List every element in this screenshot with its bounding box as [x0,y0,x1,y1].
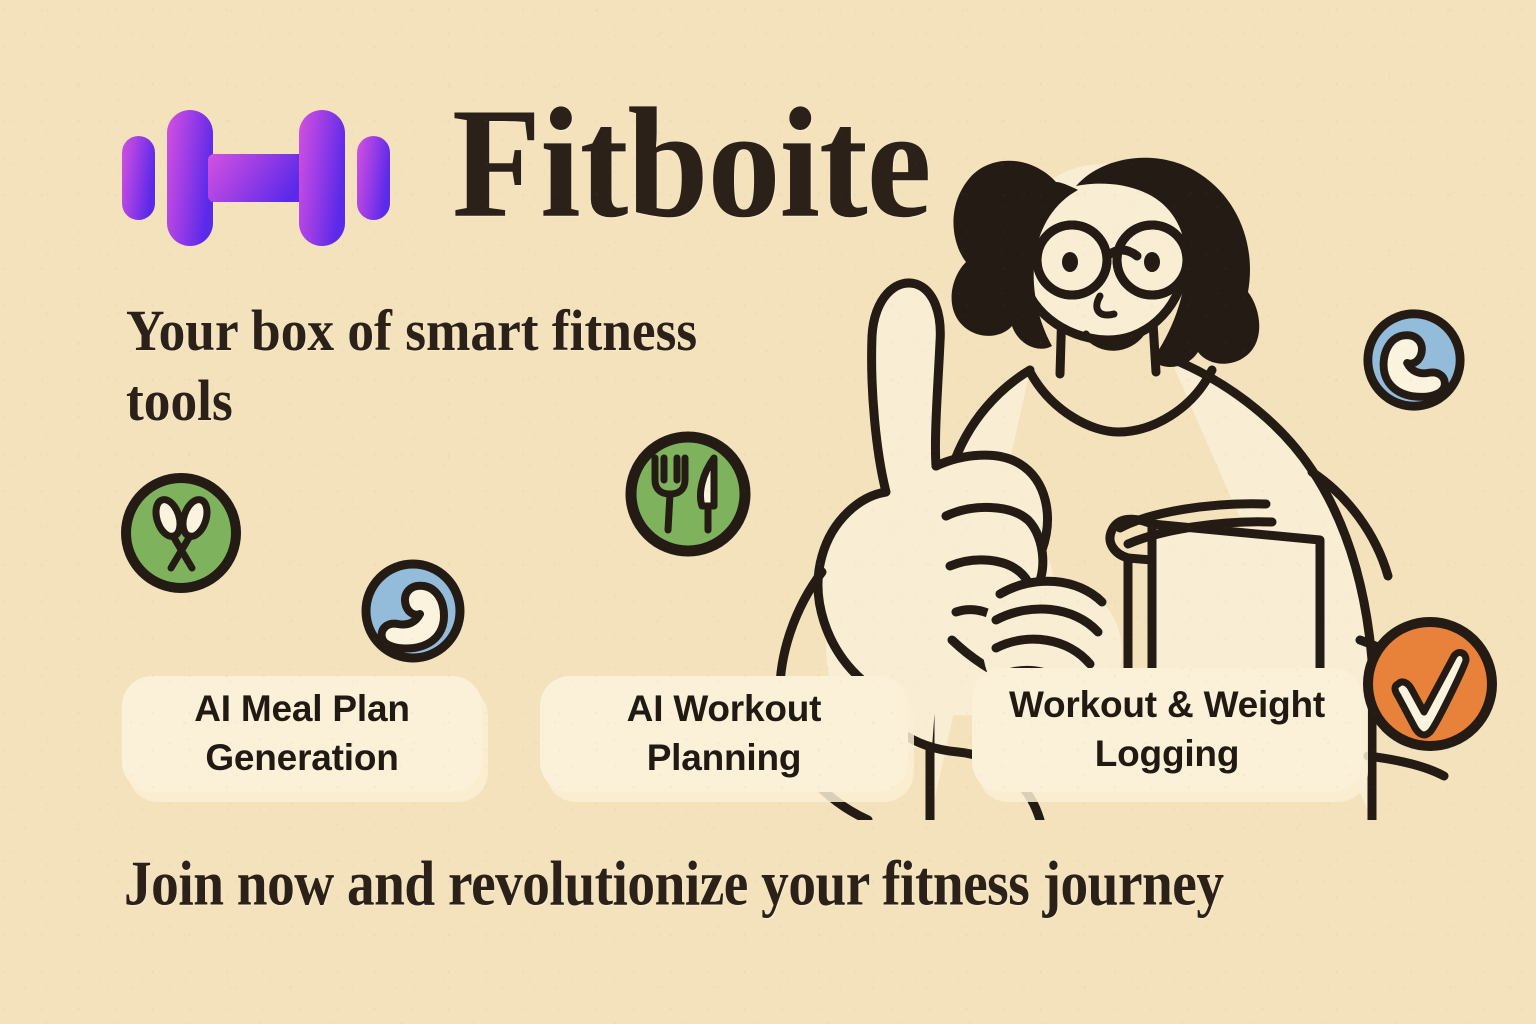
feature-pill-label: AI Meal Plan Generation [140,685,464,783]
flexed-bicep-icon [358,556,468,666]
dumbbell-icon [122,104,390,252]
feature-pill-workout-weight-logging[interactable]: Workout & Weight Logging [972,668,1362,792]
feature-pill-ai-workout-planning[interactable]: AI Workout Planning [540,676,908,792]
call-to-action-text: Join now and revolutionize your fitness … [124,852,1223,916]
fork-knife-icon [622,428,754,560]
flexed-bicep-icon [1360,306,1468,414]
feature-pill-ai-meal-plan[interactable]: AI Meal Plan Generation [122,676,482,792]
fitboite-promo-banner: Fitboite Your box of smart fitness tools [0,0,1536,1024]
feature-pill-label: AI Workout Planning [558,685,890,783]
tagline: Your box of smart fitness tools [126,296,770,435]
check-circle-icon [1358,612,1502,756]
feature-pill-label: Workout & Weight Logging [990,681,1344,779]
crossed-spoons-icon [118,470,244,596]
